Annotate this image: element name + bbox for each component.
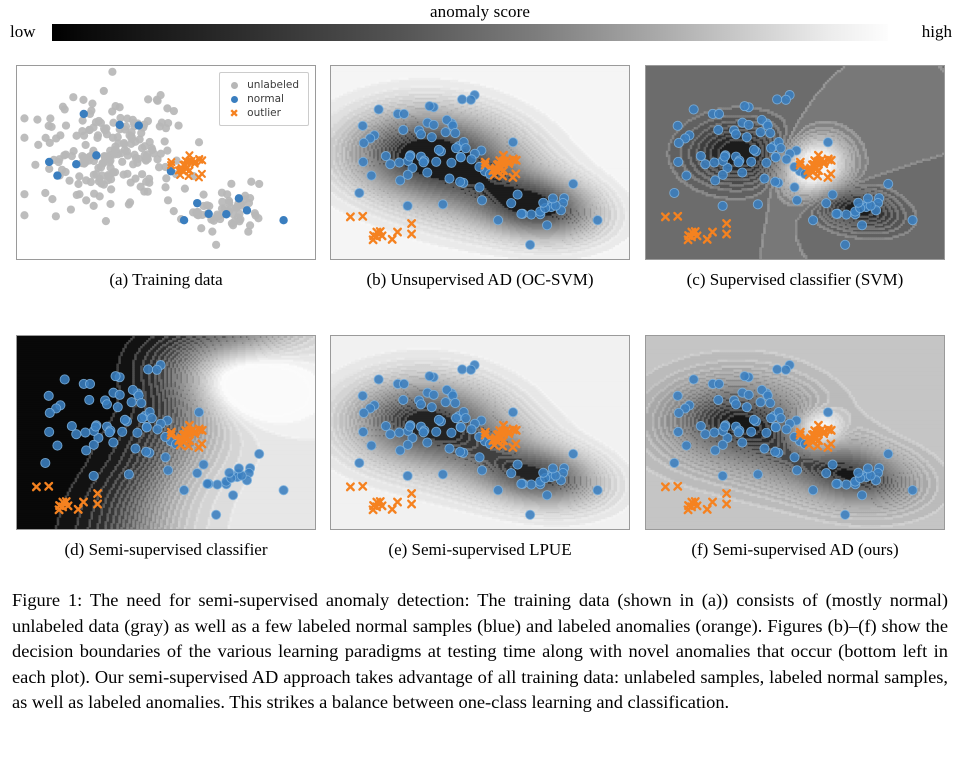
panel-d: (d) Semi-supervised classifier (16, 335, 316, 560)
scatter-group (45, 122, 53, 130)
scatter-group (46, 139, 54, 147)
scatter-group (105, 158, 113, 166)
scatter-group (121, 146, 129, 154)
scatter-group (144, 95, 152, 103)
scatter-group (225, 199, 233, 207)
scatter-group (245, 199, 253, 207)
scatter-group (81, 158, 89, 166)
scatter-group (229, 221, 237, 229)
legend-label-outlier: outlier (247, 106, 281, 120)
gray-circle-icon (227, 78, 241, 92)
panel-e: (e) Semi-supervised LPUE (330, 335, 630, 560)
scatter-group (41, 189, 49, 197)
panel-a-caption: (a) Training data (16, 270, 316, 290)
panel-e-canvas (331, 336, 629, 529)
scatter-group (114, 133, 122, 141)
panel-b-caption: (b) Unsupervised AD (OC-SVM) (330, 270, 630, 290)
scatter-group (213, 210, 221, 218)
scatter-group (255, 180, 263, 188)
scatter-group (103, 130, 111, 138)
scatter-group (164, 196, 172, 204)
scatter-group (138, 144, 146, 152)
scatter-group (85, 126, 93, 134)
legend-item-unlabeled: unlabeled (227, 78, 299, 92)
scatter-group (153, 155, 161, 163)
legend: unlabeled normal ✖ outlier (219, 72, 309, 126)
colorbar-gradient (52, 24, 888, 41)
scatter-group (212, 241, 220, 249)
scatter-group (153, 96, 161, 104)
panel-c-caption: (c) Supervised classifier (SVM) (645, 270, 945, 290)
panel-e-caption: (e) Semi-supervised LPUE (330, 540, 630, 560)
scatter-group (127, 128, 135, 136)
scatter-group (142, 178, 150, 186)
legend-label-unlabeled: unlabeled (247, 78, 299, 92)
scatter-group (133, 159, 141, 167)
legend-item-outlier: ✖ outlier (227, 106, 299, 120)
scatter-group (82, 176, 90, 184)
panel-b-canvas (331, 66, 629, 259)
scatter-group (148, 144, 156, 152)
scatter-group (161, 183, 169, 191)
scatter-group (118, 158, 126, 166)
colorbar: anomaly score low high (0, 0, 960, 52)
panel-b-plot (330, 65, 630, 260)
panel-b: (b) Unsupervised AD (OC-SVM) (330, 65, 630, 290)
scatter-group (137, 129, 145, 137)
panel-d-plot (16, 335, 316, 530)
panel-d-caption: (d) Semi-supervised classifier (16, 540, 316, 560)
scatter-group (90, 202, 98, 210)
scatter-group (94, 164, 102, 172)
panel-f: (f) Semi-supervised AD (ours) (645, 335, 945, 560)
panel-f-caption: (f) Semi-supervised AD (ours) (645, 540, 945, 560)
orange-x-icon: ✖ (227, 106, 241, 120)
panel-f-canvas (646, 336, 944, 529)
colorbar-high-label: high (922, 22, 952, 42)
scatter-group (195, 138, 203, 146)
blue-circle-icon (227, 92, 241, 106)
panel-d-canvas (17, 336, 315, 529)
scatter-group (61, 105, 69, 113)
panel-e-plot (330, 335, 630, 530)
legend-item-normal: normal (227, 92, 299, 106)
panel-c: (c) Supervised classifier (SVM) (645, 65, 945, 290)
scatter-group (90, 171, 98, 179)
panel-a-plot: unlabeled normal ✖ outlier (16, 65, 316, 260)
panel-c-plot (645, 65, 945, 260)
scatter-group (68, 152, 76, 160)
scatter-group (199, 190, 207, 198)
colorbar-low-label: low (10, 22, 36, 42)
colorbar-title: anomaly score (0, 2, 960, 22)
panel-c-canvas (646, 66, 944, 259)
scatter-group (143, 153, 151, 161)
scatter-group (109, 168, 117, 176)
scatter-group (125, 200, 133, 208)
panel-a: unlabeled normal ✖ outlier (a) Training … (16, 65, 316, 290)
scatter-group (111, 102, 119, 110)
panel-f-plot (645, 335, 945, 530)
figure-caption: Figure 1: The need for semi-supervised a… (12, 588, 948, 716)
legend-label-normal: normal (247, 92, 284, 106)
scatter-group (131, 174, 139, 182)
